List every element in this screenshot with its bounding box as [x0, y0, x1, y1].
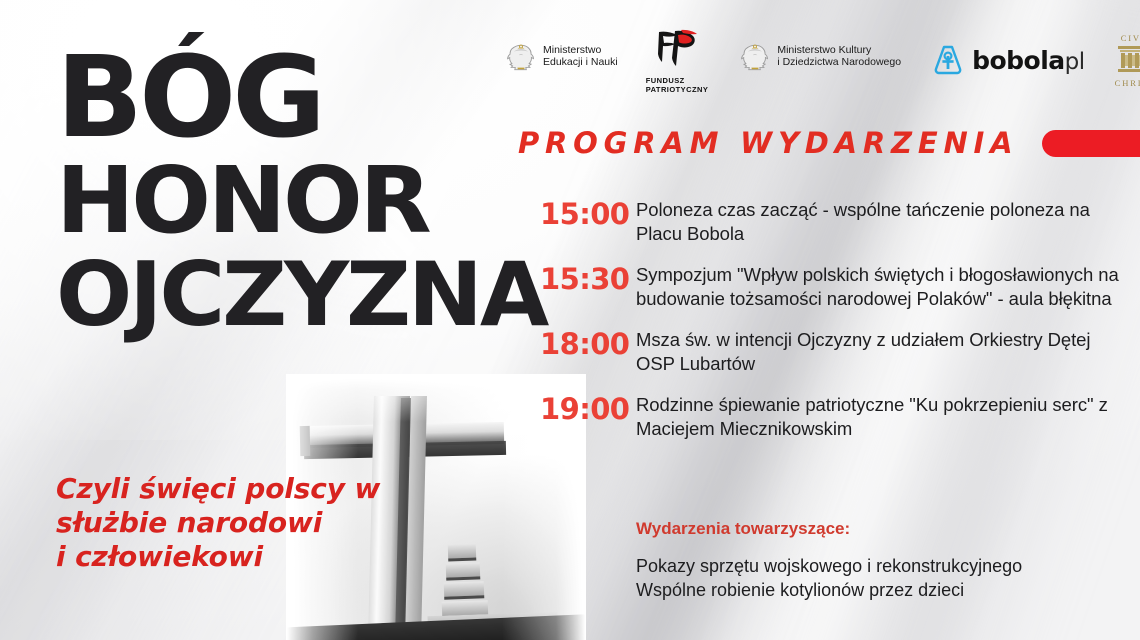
- civitas-bottom-text: CHRISTIANA: [1115, 79, 1140, 88]
- logo-fundusz-patriotyczny: FUNDUSZ PATRIOTYCZNY: [646, 28, 709, 95]
- schedule-row: 19:00 Rodzinne śpiewanie patriotyczne "K…: [540, 393, 1120, 441]
- logo-mkidn-line-2: i Dziedzictwa Narodowego: [777, 56, 901, 69]
- schedule-description: Sympozjum "Wpływ polskich świętych i bło…: [636, 263, 1120, 311]
- logo-mkidn-line-1: Ministerstwo Kultury: [777, 44, 901, 57]
- event-poster: BÓG HONOR OJCZYZNA Czyli święci polscy w…: [0, 0, 1140, 640]
- schedule-description: Rodzinne śpiewanie patriotyczne "Ku pokr…: [636, 393, 1120, 441]
- polish-eagle-emblem-icon: [506, 42, 536, 81]
- subtitle-line-1: Czyli święci polscy w: [56, 472, 396, 506]
- program-accent-bar: [1042, 130, 1140, 157]
- program-title: PROGRAM WYDARZENIA: [518, 126, 1018, 160]
- headline-line-ojczyzna: OJCZYZNA: [56, 254, 495, 336]
- accompanying-event-item: Pokazy sprzętu wojskowego i rekonstrukcy…: [636, 555, 1116, 579]
- logo-mein-line-1: Ministerstwo: [543, 44, 618, 57]
- polish-eagle-emblem-icon: [740, 42, 770, 81]
- schedule-description: Msza św. w intencji Ojczyzny z udziałem …: [636, 328, 1120, 376]
- subtitle-line-3: i człowiekowi: [56, 540, 396, 574]
- bobola-word: bobola: [972, 46, 1065, 75]
- subtitle-line-2: służbie narodowi: [56, 506, 396, 540]
- schedule-time: 18:00: [540, 328, 636, 360]
- classical-building-emblem-icon: [1116, 61, 1140, 78]
- logo-fp-line-2: PATRIOTYCZNY: [646, 85, 709, 94]
- schedule-row: 18:00 Msza św. w intencji Ojczyzny z udz…: [540, 328, 1120, 376]
- logo-civitas-christiana: CIVITAS: [1115, 34, 1140, 88]
- bobola-suffix: pl: [1065, 49, 1085, 75]
- schedule-row: 15:30 Sympozjum "Wpływ polskich świętych…: [540, 263, 1120, 311]
- sponsor-logo-strip: Ministerstwo Edukacji i Nauki: [506, 30, 1120, 92]
- schedule-row: 15:00 Poloneza czas zacząć - wspólne tań…: [540, 198, 1120, 246]
- logo-ministerstwo-edukacji-i-nauki: Ministerstwo Edukacji i Nauki: [506, 42, 618, 81]
- schedule-time: 19:00: [540, 393, 636, 425]
- accompanying-event-item: Wspólne robienie kotylionów przez dzieci: [636, 579, 1116, 603]
- logo-fp-line-1: FUNDUSZ: [646, 76, 709, 85]
- page-title: BÓG HONOR OJCZYZNA: [56, 46, 486, 336]
- civitas-top-text: CIVITAS: [1115, 34, 1140, 43]
- logo-ministerstwo-kultury-i-dziedzictwa-narodowego: Ministerstwo Kultury i Dziedzictwa Narod…: [740, 42, 901, 81]
- schedule-time: 15:00: [540, 198, 636, 230]
- schedule-time: 15:30: [540, 263, 636, 295]
- bobola-cross-icon: [931, 43, 965, 80]
- bobola-wordmark: bobolapl: [972, 48, 1085, 74]
- headline-line-bog: BÓG: [56, 46, 495, 150]
- headline-line-honor: HONOR: [56, 158, 495, 244]
- fp-monogram-icon: [651, 28, 703, 75]
- schedule-description: Poloneza czas zacząć - wspólne tańczenie…: [636, 198, 1120, 246]
- program-schedule: 15:00 Poloneza czas zacząć - wspólne tań…: [540, 198, 1120, 458]
- accompanying-events: Wydarzenia towarzyszące: Pokazy sprzętu …: [636, 518, 1116, 603]
- subtitle: Czyli święci polscy w służbie narodowi i…: [56, 472, 396, 574]
- logo-bobola-pl: bobolapl: [931, 43, 1085, 80]
- program-header: PROGRAM WYDARZENIA: [518, 126, 1140, 160]
- accompanying-events-title: Wydarzenia towarzyszące:: [636, 518, 1116, 539]
- logo-mein-line-2: Edukacji i Nauki: [543, 56, 618, 69]
